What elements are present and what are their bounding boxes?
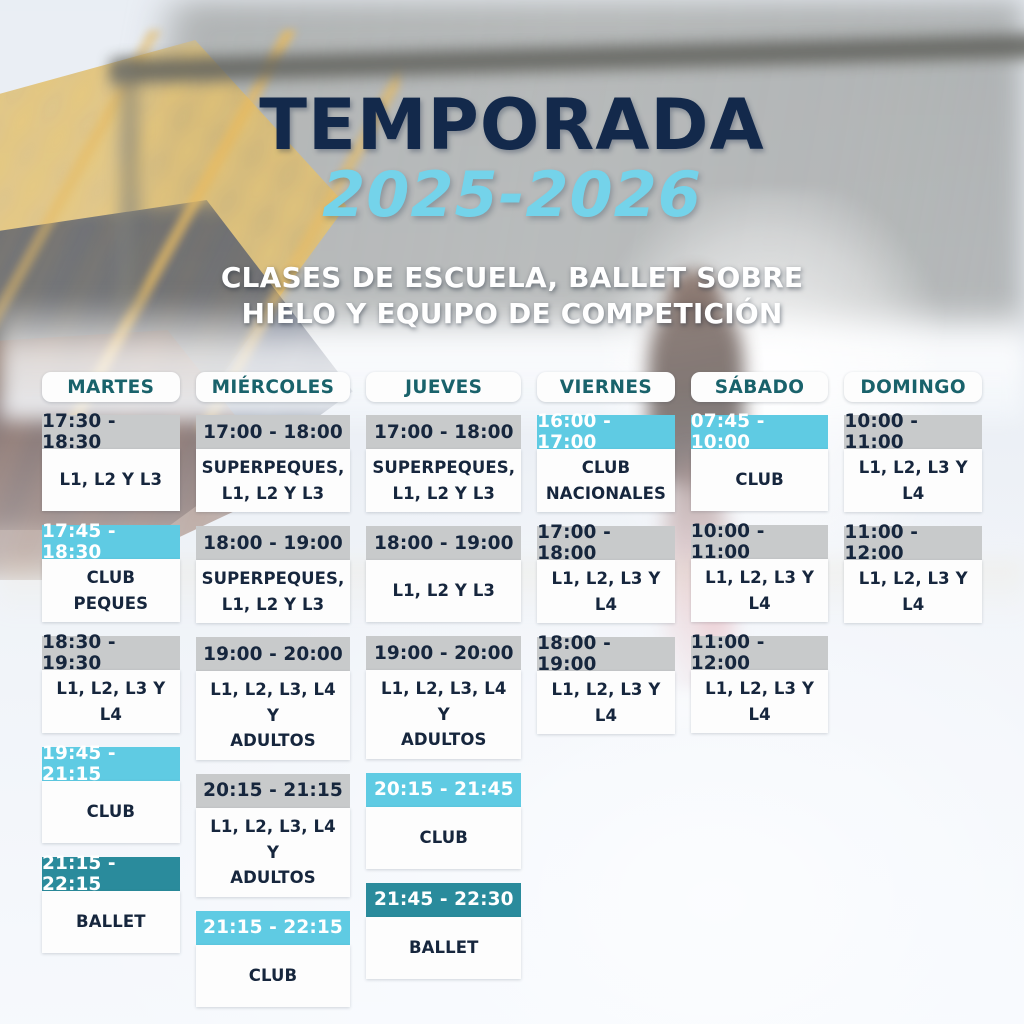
slot-level-text: L1, L2, L3 Y L4 [48,676,174,727]
slot-level-text: CLUB [249,963,297,989]
schedule-slot[interactable]: 17:00 - 18:00SUPERPEQUES,L1, L2 Y L3 [366,415,521,512]
slot-body: L1, L2, L3 Y L4 [537,560,675,623]
slot-time-badge: 20:15 - 21:45 [366,773,521,807]
slot-time-badge: 20:15 - 21:15 [196,774,351,808]
slot-body: L1, L2, L3, L4 YADULTOS [366,670,521,759]
day-column-jueves: JUEVES17:00 - 18:00SUPERPEQUES,L1, L2 Y … [366,372,521,1021]
slot-time-badge: 19:00 - 20:00 [366,636,521,670]
slot-body: L1, L2, L3 Y L4 [844,449,982,512]
slot-body: SUPERPEQUES,L1, L2 Y L3 [366,449,521,512]
slot-body: L1, L2, L3, L4 YADULTOS [196,808,351,897]
slot-level-text: L1, L2, L3 Y L4 [850,455,976,506]
slot-time-badge: 16:00 - 17:00 [537,415,675,449]
slot-level-text: BALLET [409,935,479,961]
slot-level-text: L1, L2, L3, L4 Y [202,677,345,728]
slot-level-text: CLUB [87,799,135,825]
slot-time-badge: 19:45 - 21:15 [42,747,180,781]
schedule-slot[interactable]: 17:30 - 18:30L1, L2 Y L3 [42,415,180,511]
schedule-slot[interactable]: 11:00 - 12:00L1, L2, L3 Y L4 [691,636,829,733]
page-subtitle: CLASES DE ESCUELA, BALLET SOBRE HIELO Y … [182,260,842,332]
day-header-viernes[interactable]: VIERNES [537,372,675,402]
schedule-slot[interactable]: 20:15 - 21:45CLUB [366,773,521,869]
slot-level-text: CLUB [87,565,135,591]
schedule-slot[interactable]: 19:00 - 20:00L1, L2, L3, L4 YADULTOS [366,636,521,759]
slot-body: CLUB [42,781,180,843]
schedule-slot[interactable]: 21:45 - 22:30BALLET [366,883,521,979]
slot-body: CLUBNACIONALES [537,449,675,512]
slot-level-text: L1, L2 Y L3 [392,481,495,507]
schedule-slot[interactable]: 18:00 - 19:00L1, L2, L3 Y L4 [537,637,675,734]
day-column-domingo: DOMINGO10:00 - 11:00L1, L2, L3 Y L411:00… [844,372,982,1021]
slot-time-badge: 10:00 - 11:00 [691,525,829,559]
slot-level-text: SUPERPEQUES, [202,455,345,481]
day-header-sbado[interactable]: SÁBADO [691,372,829,402]
slot-time-badge: 11:00 - 12:00 [691,636,829,670]
slot-time-badge: 18:30 - 19:30 [42,636,180,670]
slot-level-text: CLUB [735,467,783,493]
slot-time-badge: 07:45 - 10:00 [691,415,829,449]
slot-time-badge: 17:45 - 18:30 [42,525,180,559]
slot-time-badge: 11:00 - 12:00 [844,526,982,560]
schedule-slot[interactable]: 21:15 - 22:15CLUB [196,911,351,1007]
slot-body: SUPERPEQUES,L1, L2 Y L3 [196,449,351,512]
slot-time-badge: 17:00 - 18:00 [537,526,675,560]
slot-level-text: ADULTOS [230,728,316,754]
schedule-slot[interactable]: 18:00 - 19:00SUPERPEQUES,L1, L2 Y L3 [196,526,351,623]
schedule-slot[interactable]: 20:15 - 21:15L1, L2, L3, L4 YADULTOS [196,774,351,897]
slot-level-text: ADULTOS [401,727,487,753]
slot-level-text: L1, L2, L3 Y L4 [850,566,976,617]
slot-level-text: L1, L2, L3, L4 Y [202,814,345,865]
slot-level-text: L1, L2, L3, L4 Y [372,676,515,727]
schedule-grid: MARTES17:30 - 18:30L1, L2 Y L317:45 - 18… [42,372,982,1021]
day-column-mircoles: MIÉRCOLES17:00 - 18:00SUPERPEQUES,L1, L2… [196,372,351,1021]
schedule-slot[interactable]: 17:00 - 18:00L1, L2, L3 Y L4 [537,526,675,623]
slot-level-text: CLUB [420,825,468,851]
slot-body: CLUB [196,945,351,1007]
slot-body: L1, L2, L3 Y L4 [42,670,180,733]
slot-level-text: L1, L2, L3 Y L4 [697,676,823,727]
slot-level-text: NACIONALES [546,481,666,507]
slot-level-text: SUPERPEQUES, [372,455,515,481]
schedule-slot[interactable]: 18:30 - 19:30L1, L2, L3 Y L4 [42,636,180,733]
slot-level-text: ADULTOS [230,865,316,891]
slot-body: BALLET [42,891,180,953]
slot-level-text: L1, L2 Y L3 [60,467,163,493]
day-header-martes[interactable]: MARTES [42,372,180,402]
page-title: TEMPORADA [0,92,1024,159]
slot-body: CLUB [691,449,829,511]
slot-time-badge: 18:00 - 19:00 [366,526,521,560]
slot-time-badge: 19:00 - 20:00 [196,637,351,671]
day-header-domingo[interactable]: DOMINGO [844,372,982,402]
schedule-slot[interactable]: 21:15 - 22:15BALLET [42,857,180,953]
schedule-slot[interactable]: 17:00 - 18:00SUPERPEQUES,L1, L2 Y L3 [196,415,351,512]
slot-body: L1, L2 Y L3 [42,449,180,511]
schedule-slot[interactable]: 11:00 - 12:00L1, L2, L3 Y L4 [844,526,982,623]
day-header-jueves[interactable]: JUEVES [366,372,521,402]
day-column-viernes: VIERNES16:00 - 17:00CLUBNACIONALES17:00 … [537,372,675,1021]
slot-body: BALLET [366,917,521,979]
slot-time-badge: 18:00 - 19:00 [537,637,675,671]
slot-level-text: L1, L2 Y L3 [222,481,325,507]
slot-level-text: BALLET [76,909,146,935]
slot-time-badge: 17:00 - 18:00 [196,415,351,449]
schedule-slot[interactable]: 07:45 - 10:00CLUB [691,415,829,511]
slot-time-badge: 18:00 - 19:00 [196,526,351,560]
schedule-slot[interactable]: 19:45 - 21:15CLUB [42,747,180,843]
schedule-slot[interactable]: 17:45 - 18:30CLUBPEQUES [42,525,180,622]
slot-body: L1, L2, L3 Y L4 [844,560,982,623]
title-block: TEMPORADA 2025-2026 CLASES DE ESCUELA, B… [0,0,1024,331]
slot-body: L1, L2, L3 Y L4 [537,671,675,734]
day-column-sbado: SÁBADO07:45 - 10:00CLUB10:00 - 11:00L1, … [691,372,829,1021]
schedule-slot[interactable]: 10:00 - 11:00L1, L2, L3 Y L4 [844,415,982,512]
slot-body: CLUBPEQUES [42,559,180,622]
slot-time-badge: 21:15 - 22:15 [196,911,351,945]
slot-body: L1, L2 Y L3 [366,560,521,622]
poster: TEMPORADA 2025-2026 CLASES DE ESCUELA, B… [0,0,1024,1024]
schedule-slot[interactable]: 18:00 - 19:00L1, L2 Y L3 [366,526,521,622]
slot-body: L1, L2, L3 Y L4 [691,559,829,622]
schedule-slot[interactable]: 16:00 - 17:00CLUBNACIONALES [537,415,675,512]
slot-level-text: L1, L2, L3 Y L4 [543,566,669,617]
day-header-mircoles[interactable]: MIÉRCOLES [196,372,351,402]
slot-time-badge: 10:00 - 11:00 [844,415,982,449]
slot-level-text: CLUB [582,455,630,481]
slot-body: CLUB [366,807,521,869]
slot-level-text: L1, L2, L3 Y L4 [697,565,823,616]
slot-body: SUPERPEQUES,L1, L2 Y L3 [196,560,351,623]
schedule-slot[interactable]: 19:00 - 20:00L1, L2, L3, L4 YADULTOS [196,637,351,760]
day-column-martes: MARTES17:30 - 18:30L1, L2 Y L317:45 - 18… [42,372,180,1021]
slot-level-text: L1, L2, L3 Y L4 [543,677,669,728]
slot-time-badge: 21:45 - 22:30 [366,883,521,917]
schedule-slot[interactable]: 10:00 - 11:00L1, L2, L3 Y L4 [691,525,829,622]
slot-time-badge: 17:30 - 18:30 [42,415,180,449]
slot-level-text: L1, L2 Y L3 [392,578,495,604]
slot-level-text: SUPERPEQUES, [202,566,345,592]
slot-time-badge: 17:00 - 18:00 [366,415,521,449]
slot-level-text: PEQUES [74,591,149,617]
season-years: 2025-2026 [0,163,1024,226]
slot-body: L1, L2, L3 Y L4 [691,670,829,733]
slot-level-text: L1, L2 Y L3 [222,592,325,618]
slot-time-badge: 21:15 - 22:15 [42,857,180,891]
slot-body: L1, L2, L3, L4 YADULTOS [196,671,351,760]
